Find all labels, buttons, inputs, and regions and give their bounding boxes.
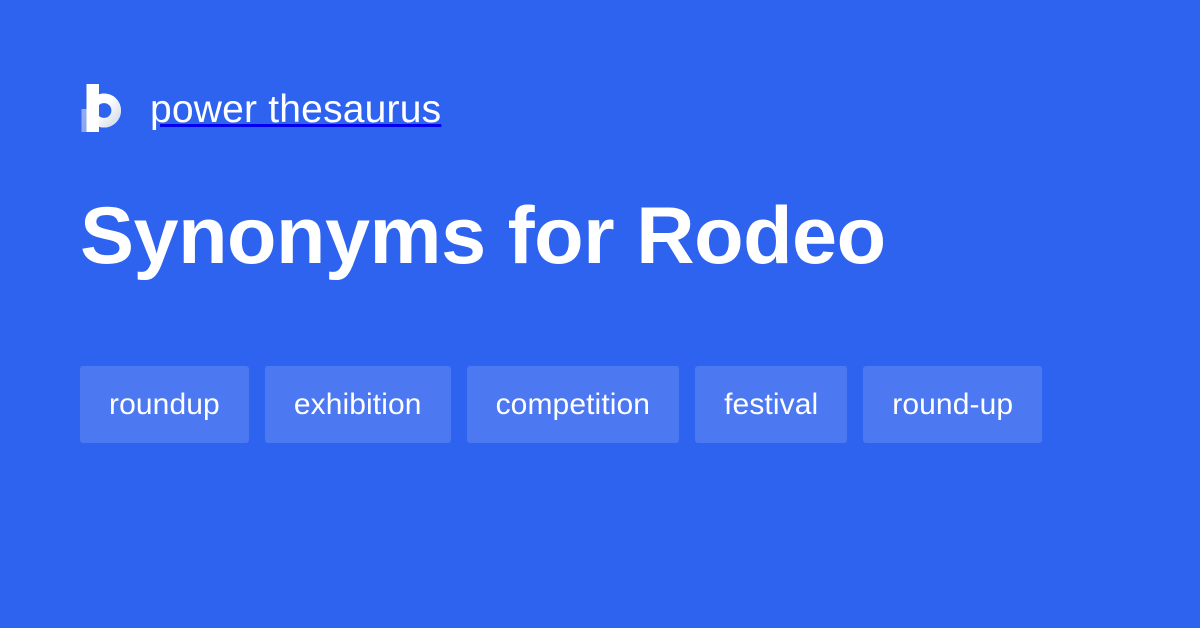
brand-logo-link[interactable]: power thesaurus (80, 80, 441, 136)
page-title: Synonyms for Rodeo (80, 196, 886, 277)
share-card: power thesaurus Synonyms for Rodeo round… (0, 0, 1200, 628)
brand-name: power thesaurus (150, 90, 441, 129)
synonym-chip-list: roundup exhibition competition festival … (80, 366, 1140, 443)
synonym-chip[interactable]: roundup (80, 366, 249, 443)
synonym-chip[interactable]: exhibition (265, 366, 451, 443)
synonym-chip[interactable]: competition (467, 366, 680, 443)
synonym-chip[interactable]: festival (695, 366, 847, 443)
synonym-chip[interactable]: round-up (863, 366, 1042, 443)
power-thesaurus-b-logo-icon (80, 83, 126, 133)
